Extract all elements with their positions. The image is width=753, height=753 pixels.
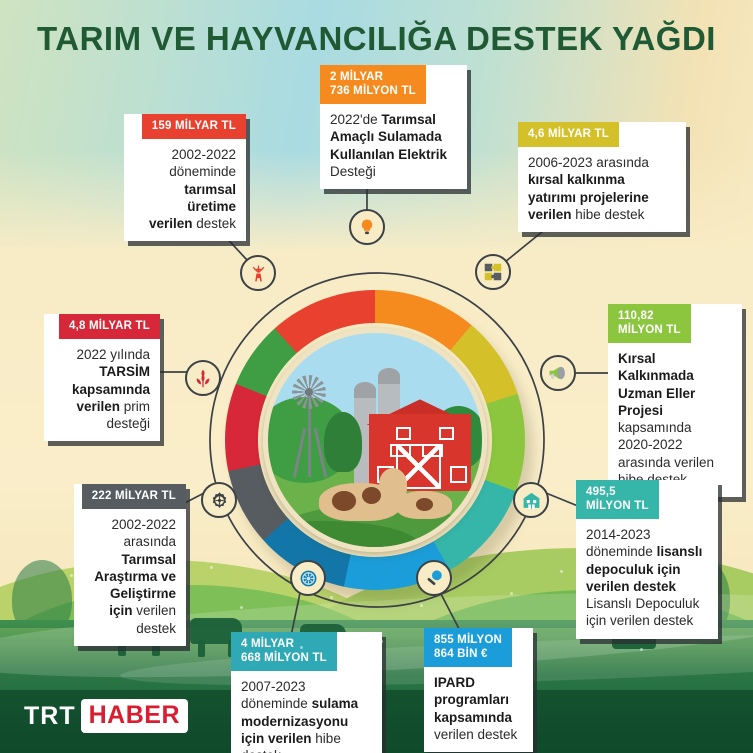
stat-card-body: 2002-2022dönemindetarımsalüretimeverilen… [124, 139, 246, 241]
badge-wrapper: 4,6 MİLYAR TL [518, 122, 686, 147]
sparkle-dot [330, 596, 333, 599]
stat-card-body: 2007-2023döneminde sulamamodernizasyonui… [231, 671, 382, 753]
stat-card-arastirma-gelistirme[interactable]: 222 MİLYAR TL2002-2022arasındaTarımsalAr… [74, 484, 186, 646]
sparkle-dot [420, 604, 423, 607]
badge-line: 736 MİLYON TL [330, 84, 416, 98]
wheat-icon[interactable] [185, 360, 221, 396]
badge-line: 4,6 MİLYAR TL [528, 127, 609, 141]
stat-card-line: Uzman Eller [618, 385, 732, 402]
stat-card-line: destek [241, 747, 372, 753]
illustration-cow-spot [332, 491, 356, 510]
stat-card-uzman-eller[interactable]: 110,82MİLYON TLKırsal KalkınmadaUzman El… [608, 304, 742, 497]
stat-card-line: döneminde [134, 163, 236, 180]
stat-card-line: arasında [84, 533, 176, 550]
stat-card-line: Amaçlı Sulamada [330, 128, 457, 145]
stat-card-body: 2002-2022arasındaTarımsalAraştırma veGel… [74, 509, 186, 646]
stat-card-line: 2006-2023 arasında [528, 154, 676, 171]
sparkle-dot [640, 648, 643, 651]
stat-card-line: Tarımsal [84, 551, 176, 568]
stat-card-line: Projesi [618, 402, 732, 419]
stat-card-line: 2022'de Tarımsal [330, 111, 457, 128]
badge-line: MİLYON TL [586, 499, 649, 513]
farm-illustration [263, 328, 487, 552]
badge-line: 222 MİLYAR TL [92, 489, 176, 503]
stat-card-lisansli-depoculuk[interactable]: 495,5MİLYON TL2014-2023döneminde lisansl… [576, 480, 718, 639]
stat-badge: 222 MİLYAR TL [82, 484, 186, 509]
stat-card-line: 2022 yılında [54, 346, 150, 363]
stat-card-line: Araştırma ve [84, 568, 176, 585]
stat-card-line: döneminde lisanslı [586, 543, 708, 560]
sparkle-dot [240, 606, 243, 609]
stat-card-body: 2022 yılındaTARSİMkapsamındaverilen prim… [44, 339, 160, 441]
sprinkler-icon[interactable] [290, 560, 326, 596]
trt-haber-logo[interactable]: TRT HABER [24, 700, 188, 732]
stat-card-line: 2002-2022 [84, 516, 176, 533]
stat-badge: 855 MİLYON864 BİN € [424, 628, 512, 667]
stat-card-line: tarımsal [134, 181, 236, 198]
illustration-barn-window [450, 466, 467, 483]
badge-wrapper: 495,5MİLYON TL [576, 480, 718, 519]
illustration-silo [354, 382, 376, 398]
infographic-canvas: TARIM VE HAYVANCILIĞA DESTEK YAĞDI [0, 0, 753, 753]
stat-card-line: 2007-2023 [241, 678, 372, 695]
sparkle-dot [70, 574, 73, 577]
stat-card-sulama-elektrik[interactable]: 2 MİLYAR736 MİLYON TL2022'de TarımsalAma… [320, 65, 467, 189]
logo-haber: HABER [81, 699, 188, 733]
stat-badge: 2 MİLYAR736 MİLYON TL [320, 65, 426, 104]
stat-badge: 4 MİLYAR668 MİLYON TL [231, 632, 337, 671]
stat-card-line: verilen destek [134, 215, 236, 232]
gear-icon[interactable] [201, 482, 237, 518]
stat-card-line: için verilen [84, 602, 176, 619]
badge-line: 4 MİLYAR [241, 637, 327, 651]
stat-card-line: verilen destek [434, 726, 523, 743]
badge-wrapper: 110,82MİLYON TL [608, 304, 742, 343]
stat-card-line: için verilen hibe [241, 730, 372, 747]
stat-card-line: yatırımı projelerine [528, 189, 676, 206]
stat-card-line: verilen prim [54, 398, 150, 415]
stat-card-line: Geliştirme [84, 585, 176, 602]
page-title: TARIM VE HAYVANCILIĞA DESTEK YAĞDI [0, 20, 753, 58]
badge-wrapper: 855 MİLYON864 BİN € [424, 628, 533, 667]
stat-card-line: 2020-2022 [618, 436, 732, 453]
sparkle-dot [130, 640, 133, 643]
stat-card-line: arasında verilen [618, 454, 732, 471]
badge-wrapper: 222 MİLYAR TL [74, 484, 186, 509]
stat-badge: 110,82MİLYON TL [608, 304, 691, 343]
stat-card-line: Lisanslı Depoculuk [586, 595, 708, 612]
illustration-barn-window [396, 427, 411, 440]
sparkle-dot [380, 640, 383, 643]
stat-card-body: 2006-2023 arasındakırsal kalkınmayatırım… [518, 147, 686, 232]
stat-card-ipard[interactable]: 855 MİLYON864 BİN €IPARDprogramlarıkapsa… [424, 628, 533, 752]
badge-line: 4,8 MİLYAR TL [69, 319, 150, 333]
badge-line: 2 MİLYAR [330, 70, 416, 84]
stat-card-line: kapsamında [54, 381, 150, 398]
megaphone-icon[interactable] [540, 355, 576, 391]
warehouse-icon[interactable] [513, 482, 549, 518]
stat-card-line: için verilen destek [586, 612, 708, 629]
windmill-icon[interactable] [240, 255, 276, 291]
stat-card-line: Kırsal Kalkınmada [618, 350, 732, 385]
sparkle-dot [210, 566, 213, 569]
sparkle-dot [160, 590, 163, 593]
badge-line: 110,82 [618, 309, 681, 323]
stat-card-sulama-modernizasyonu[interactable]: 4 MİLYAR668 MİLYON TL2007-2023döneminde … [231, 632, 382, 753]
sparkle-dot [600, 602, 603, 605]
sparkle-dot [510, 592, 513, 595]
stat-card-line: modernizasyonu [241, 713, 372, 730]
center-wheel [225, 290, 525, 590]
stat-card-line: TARSİM [54, 363, 150, 380]
stat-card-body: 2014-2023döneminde lisanslıdepoculuk içi… [576, 519, 718, 639]
illustration-windmill [292, 375, 326, 409]
stat-card-tarimsal-uretim[interactable]: 159 MİLYAR TL2002-2022dönemindetarımsalü… [124, 114, 246, 241]
stat-card-line: verilen destek [586, 578, 708, 595]
stat-card-line: 2014-2023 [586, 526, 708, 543]
badge-line: 864 BİN € [434, 647, 502, 661]
stat-card-line: desteği [54, 415, 150, 432]
badge-line: 159 MİLYAR TL [152, 119, 236, 133]
stat-card-line: üretime [134, 198, 236, 215]
stat-card-line: kırsal kalkınma [528, 171, 676, 188]
stat-card-line: kapsamında [618, 419, 732, 436]
stat-card-line: IPARD [434, 674, 523, 691]
puzzle-icon[interactable] [475, 254, 511, 290]
stat-badge: 4,8 MİLYAR TL [59, 314, 160, 339]
sparkle-dot [300, 646, 303, 649]
stat-card-tarsim[interactable]: 4,8 MİLYAR TL2022 yılındaTARSİMkapsamınd… [44, 314, 160, 441]
illustration-silo [378, 368, 400, 384]
stat-card-line: döneminde sulama [241, 695, 372, 712]
illustration-tree [324, 412, 363, 472]
badge-wrapper: 4 MİLYAR668 MİLYON TL [231, 632, 382, 671]
badge-line: 668 MİLYON TL [241, 651, 327, 665]
badge-wrapper: 2 MİLYAR736 MİLYON TL [320, 65, 467, 104]
stat-card-line: depoculuk için [586, 561, 708, 578]
badge-wrapper: 159 MİLYAR TL [124, 114, 246, 139]
illustration-calf-spot [416, 498, 433, 511]
badge-line: 495,5 [586, 485, 649, 499]
cow-silhouette [198, 640, 205, 657]
stat-card-kirsal-kalkinma-yatirim[interactable]: 4,6 MİLYAR TL2006-2023 arasındakırsal ka… [518, 122, 686, 232]
stat-card-body: 2022'de TarımsalAmaçlı SulamadaKullanıla… [320, 104, 467, 189]
illustration-barn-window [439, 427, 454, 440]
stat-card-line: Desteği [330, 163, 457, 180]
stat-badge: 495,5MİLYON TL [576, 480, 659, 519]
stat-card-line: Kullanılan Elektrik [330, 146, 457, 163]
magnifier-icon[interactable] [416, 560, 452, 596]
badge-line: MİLYON TL [618, 323, 681, 337]
badge-wrapper: 4,8 MİLYAR TL [44, 314, 160, 339]
stat-card-line: programları [434, 691, 523, 708]
lightbulb-icon[interactable] [349, 209, 385, 245]
stat-badge: 159 MİLYAR TL [142, 114, 246, 139]
stat-card-line: verilen hibe destek [528, 206, 676, 223]
stat-card-body: Kırsal KalkınmadaUzman EllerProjesikapsa… [608, 343, 742, 497]
sparkle-dot [680, 594, 683, 597]
stat-card-line: destek [84, 620, 176, 637]
badge-line: 855 MİLYON [434, 633, 502, 647]
sparkle-dot [560, 570, 563, 573]
sparkle-dot [90, 600, 93, 603]
stat-card-line: 2002-2022 [134, 146, 236, 163]
stat-card-line: kapsamında [434, 709, 523, 726]
sparkle-dot [470, 640, 473, 643]
stat-badge: 4,6 MİLYAR TL [518, 122, 619, 147]
logo-trt: TRT [24, 702, 76, 731]
stat-card-body: IPARDprogramlarıkapsamındaverilen destek [424, 667, 533, 752]
